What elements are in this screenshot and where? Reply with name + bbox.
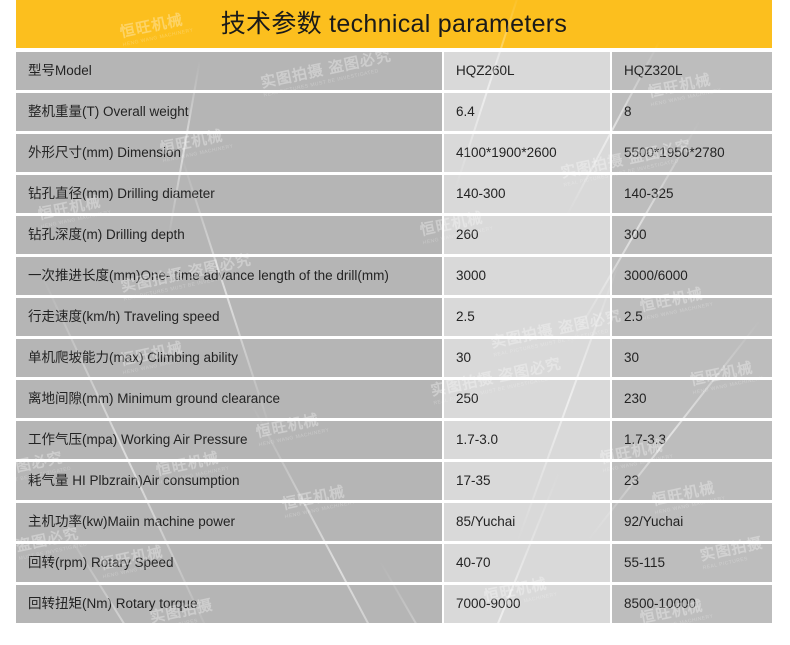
parameter-label-cell: 外形尺寸(mm) Dimension	[16, 134, 442, 172]
model-b-value-cell: 2.5	[612, 298, 772, 336]
model-b-value-cell: 55-115	[612, 544, 772, 582]
parameter-label-cell: 一次推进长度(mm)One- time advance length of th…	[16, 257, 442, 295]
parameter-label-cell: 回转(rpm) Rotary Speed	[16, 544, 442, 582]
parameter-label-cell: 钻孔深度(m) Drilling depth	[16, 216, 442, 254]
parameter-label-cell: 钻孔直径(mm) Drilling diameter	[16, 175, 442, 213]
table-row: 外形尺寸(mm) Dimension4100*1900*26005500*195…	[16, 134, 772, 172]
table-row: 一次推进长度(mm)One- time advance length of th…	[16, 257, 772, 295]
table-row: 行走速度(km/h) Traveling speed2.52.5	[16, 298, 772, 336]
model-a-value-cell: 250	[444, 380, 610, 418]
table-row: 钻孔直径(mm) Drilling diameter140-300140-325	[16, 175, 772, 213]
model-a-value-cell: 40-70	[444, 544, 610, 582]
specifications-table: 型号ModelHQZ260LHQZ320L整机重量(T) Overall wei…	[16, 52, 772, 626]
model-b-value-cell: 5500*1950*2780	[612, 134, 772, 172]
model-a-value-cell: 7000-9000	[444, 585, 610, 623]
model-b-value-cell: 230	[612, 380, 772, 418]
model-b-value-cell: 8500-10000	[612, 585, 772, 623]
page-title: 技术参数 technical parameters	[16, 0, 772, 48]
parameter-label-cell: 型号Model	[16, 52, 442, 90]
technical-parameters-spec-sheet: 技术参数 technical parameters 型号ModelHQZ260L…	[0, 0, 790, 645]
table-row: 耗气量 HI Plbzrain)Air consumption17-3523	[16, 462, 772, 500]
parameter-label-cell: 整机重量(T) Overall weight	[16, 93, 442, 131]
model-a-value-cell: 17-35	[444, 462, 610, 500]
model-b-value-cell: 23	[612, 462, 772, 500]
parameter-label-cell: 离地间隙(mm) Minimum ground clearance	[16, 380, 442, 418]
model-a-value-cell: 85/Yuchai	[444, 503, 610, 541]
model-a-value-cell: 1.7-3.0	[444, 421, 610, 459]
model-a-value-cell: 260	[444, 216, 610, 254]
table-row: 回转扭矩(Nm) Rotary torque7000-90008500-1000…	[16, 585, 772, 623]
table-row: 离地间隙(mm) Minimum ground clearance250230	[16, 380, 772, 418]
model-a-value-cell: 30	[444, 339, 610, 377]
table-row: 整机重量(T) Overall weight6.48	[16, 93, 772, 131]
table-row: 工作气压(mpa) Working Air Pressure1.7-3.01.7…	[16, 421, 772, 459]
model-a-value-cell: 6.4	[444, 93, 610, 131]
table-row: 单机爬坡能力(max) Climbing ability3030	[16, 339, 772, 377]
model-b-value-cell: 8	[612, 93, 772, 131]
parameter-label-cell: 行走速度(km/h) Traveling speed	[16, 298, 442, 336]
model-b-value-cell: 3000/6000	[612, 257, 772, 295]
parameter-label-cell: 单机爬坡能力(max) Climbing ability	[16, 339, 442, 377]
table-row: 主机功率(kw)Maiin machine power85/Yuchai92/Y…	[16, 503, 772, 541]
parameter-label-cell: 耗气量 HI Plbzrain)Air consumption	[16, 462, 442, 500]
table-row: 回转(rpm) Rotary Speed40-7055-115	[16, 544, 772, 582]
model-a-value-cell: 4100*1900*2600	[444, 134, 610, 172]
model-a-value-cell: HQZ260L	[444, 52, 610, 90]
model-b-value-cell: HQZ320L	[612, 52, 772, 90]
title-banner: 技术参数 technical parameters	[16, 0, 772, 48]
model-b-value-cell: 92/Yuchai	[612, 503, 772, 541]
model-b-value-cell: 30	[612, 339, 772, 377]
model-b-value-cell: 300	[612, 216, 772, 254]
model-a-value-cell: 2.5	[444, 298, 610, 336]
parameter-label-cell: 回转扭矩(Nm) Rotary torque	[16, 585, 442, 623]
model-a-value-cell: 3000	[444, 257, 610, 295]
parameter-label-cell: 主机功率(kw)Maiin machine power	[16, 503, 442, 541]
model-b-value-cell: 1.7-3.3	[612, 421, 772, 459]
table-row: 钻孔深度(m) Drilling depth260300	[16, 216, 772, 254]
model-b-value-cell: 140-325	[612, 175, 772, 213]
parameter-label-cell: 工作气压(mpa) Working Air Pressure	[16, 421, 442, 459]
table-row: 型号ModelHQZ260LHQZ320L	[16, 52, 772, 90]
model-a-value-cell: 140-300	[444, 175, 610, 213]
